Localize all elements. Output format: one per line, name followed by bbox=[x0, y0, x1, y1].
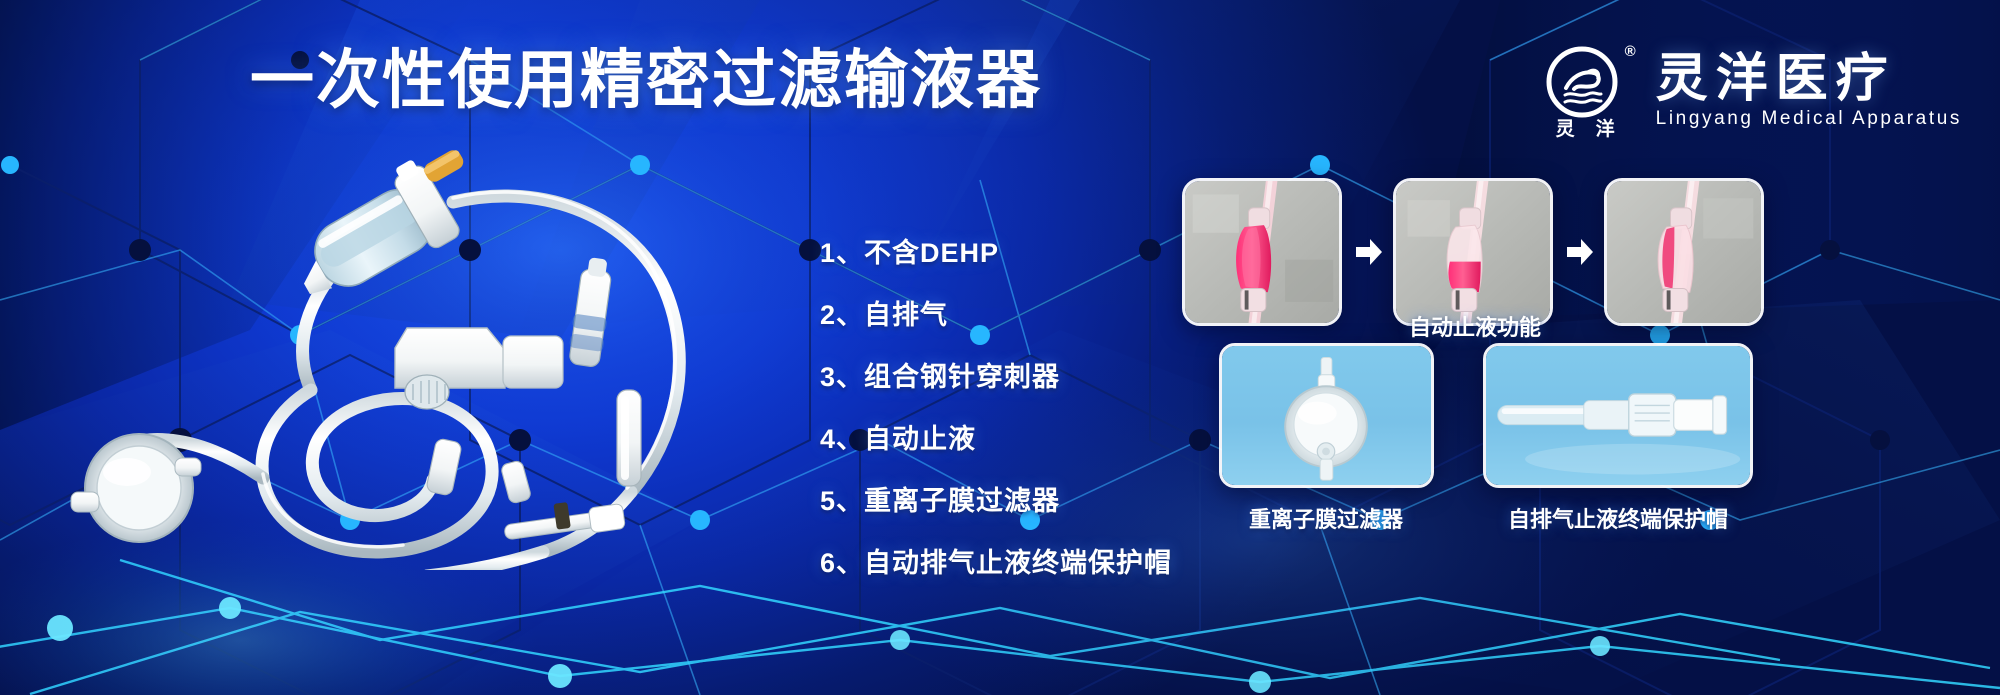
feature-item-2: 2、自排气 bbox=[820, 284, 1172, 346]
auto-stop-step-3-photo bbox=[1604, 178, 1764, 326]
arrow-right-icon-2 bbox=[1563, 235, 1597, 269]
feature-item-3: 3、组合钢针穿刺器 bbox=[820, 346, 1172, 408]
self-venting-terminal-protective-cap-photo bbox=[1483, 343, 1753, 488]
lingyang-emblem-icon: ® 灵 洋 bbox=[1538, 42, 1634, 138]
brand-logo: ® 灵 洋 灵洋医疗 Lingyang Medical Apparatus bbox=[1538, 42, 1962, 138]
feature-item-5: 5、重离子膜过滤器 bbox=[820, 470, 1172, 532]
emblem-char-left: 灵 bbox=[1556, 114, 1576, 141]
auto-stop-demo-caption: 自动止液功能 bbox=[1409, 310, 1541, 342]
feature-list: 1、不含DEHP 2、自排气 3、组合钢针穿刺器 4、自动止液 5、重离子膜过滤… bbox=[820, 222, 1172, 594]
bottom-panel-2-caption: 自排气止液终端保护帽 bbox=[1508, 502, 1728, 534]
page-title: 一次性使用精密过滤输液器 bbox=[250, 48, 1042, 112]
feature-item-1: 1、不含DEHP bbox=[820, 222, 1172, 284]
heavy-ion-membrane-filter-photo bbox=[1219, 343, 1434, 488]
emblem-subtitle: 灵 洋 bbox=[1538, 114, 1634, 141]
emblem-char-right: 洋 bbox=[1596, 114, 1616, 141]
feature-item-6: 6、自动排气止液终端保护帽 bbox=[820, 532, 1172, 594]
arrow-right-icon-1 bbox=[1352, 235, 1386, 269]
auto-stop-step-2-photo bbox=[1393, 178, 1553, 326]
feature-item-4: 4、自动止液 bbox=[820, 408, 1172, 470]
brand-name-en: Lingyang Medical Apparatus bbox=[1656, 109, 1962, 128]
product-banner: 一次性使用精密过滤输液器 ® 灵 洋 灵洋医疗 Lingyang Medical… bbox=[0, 0, 2000, 695]
banner-title-wrap: 一次性使用精密过滤输液器 bbox=[250, 48, 1042, 112]
brand-name-block: 灵洋医疗 Lingyang Medical Apparatus bbox=[1656, 53, 1962, 128]
auto-stop-step-1-photo bbox=[1182, 178, 1342, 326]
registered-trademark-icon: ® bbox=[1625, 44, 1636, 59]
bottom-panel-1-caption: 重离子膜过滤器 bbox=[1249, 502, 1403, 534]
hero-product-image bbox=[35, 140, 735, 570]
brand-name-cn: 灵洋医疗 bbox=[1656, 53, 1962, 105]
